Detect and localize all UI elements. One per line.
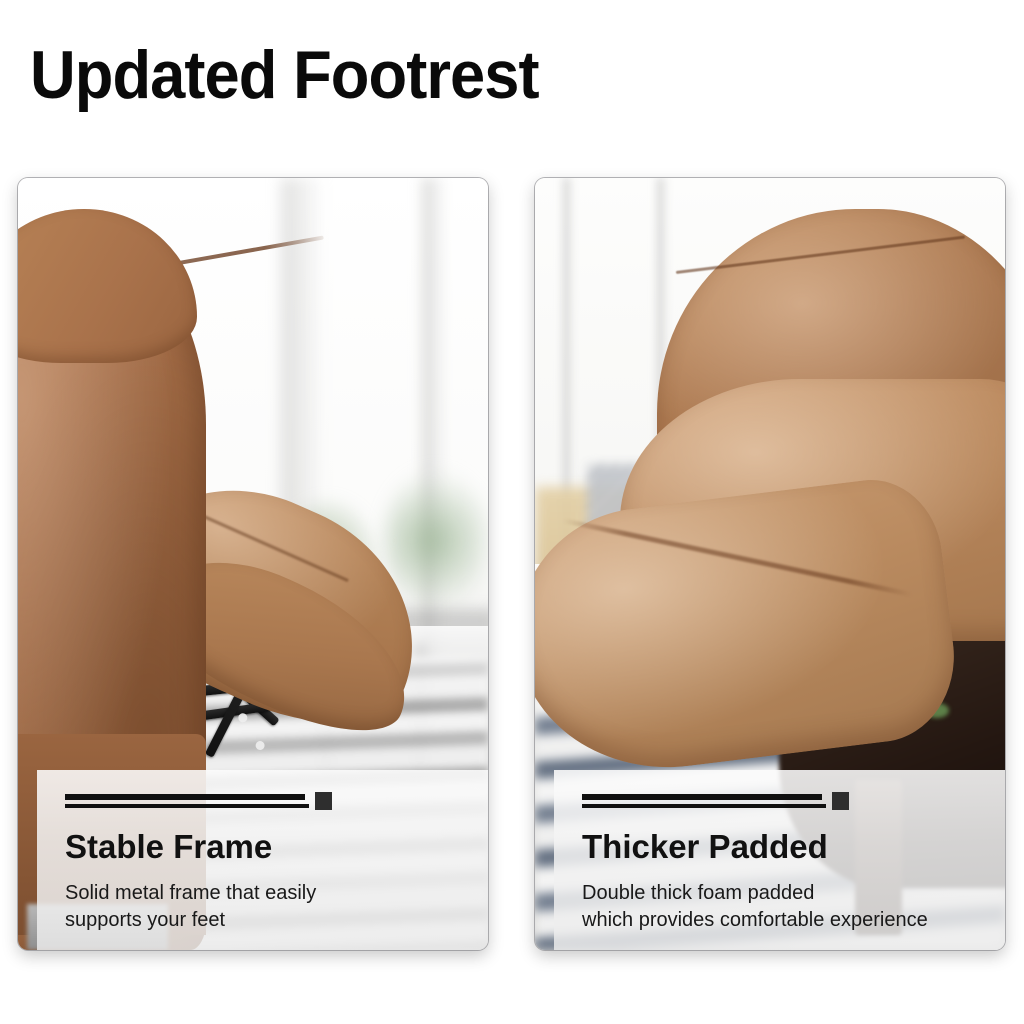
caption-accent-bar bbox=[582, 792, 850, 814]
caption-accent-bar bbox=[65, 792, 333, 814]
caption-body: Solid metal frame that easily supports y… bbox=[65, 880, 470, 934]
caption-body: Double thick foam padded which provides … bbox=[582, 880, 987, 934]
feature-panel-thicker-padded: Thicker Padded Double thick foam padded … bbox=[535, 178, 1005, 950]
product-infographic: Updated Footrest bbox=[0, 0, 1024, 1024]
feature-panel-stable-frame: Stable Frame Solid metal frame that easi… bbox=[18, 178, 488, 950]
accent-bar-line-bottom bbox=[582, 804, 826, 808]
caption-body-line: Solid metal frame that easily bbox=[65, 880, 470, 907]
caption-body-line: Double thick foam padded bbox=[582, 880, 987, 907]
caption-thicker-padded: Thicker Padded Double thick foam padded … bbox=[554, 770, 1005, 950]
page-title: Updated Footrest bbox=[30, 38, 539, 112]
caption-title: Stable Frame bbox=[65, 828, 470, 866]
accent-bar-block bbox=[315, 792, 332, 810]
footrest-cushion bbox=[535, 472, 965, 785]
blurred-plant-right bbox=[385, 471, 488, 610]
caption-body-line: which provides comfortable experience bbox=[582, 907, 987, 934]
accent-bar-line-top bbox=[65, 794, 305, 800]
caption-title: Thicker Padded bbox=[582, 828, 987, 866]
accent-bar-line-top bbox=[582, 794, 822, 800]
accent-bar-line-bottom bbox=[65, 804, 309, 808]
accent-bar-block bbox=[832, 792, 849, 810]
caption-body-line: supports your feet bbox=[65, 907, 470, 934]
caption-stable-frame: Stable Frame Solid metal frame that easi… bbox=[37, 770, 488, 950]
